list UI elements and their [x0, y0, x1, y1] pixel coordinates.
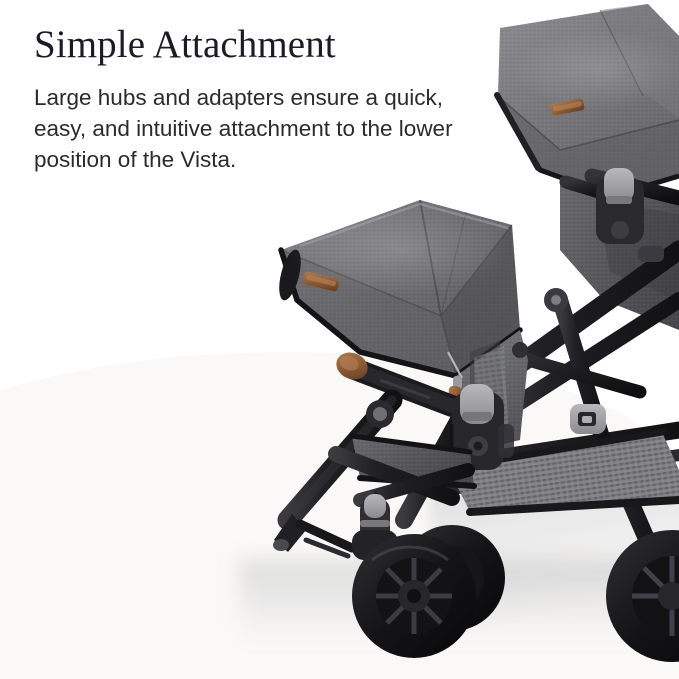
upper-adapter-hub [596, 168, 644, 244]
leather-tag-upper [550, 98, 585, 116]
rear-wheel [606, 530, 679, 662]
rumble-seat-canopy [275, 200, 520, 376]
page-title: Simple Attachment [34, 22, 504, 68]
leather-tag-lower [302, 271, 340, 292]
feature-text-block: Simple Attachment Large hubs and adapter… [34, 22, 504, 175]
toddler-seat-body [560, 178, 679, 330]
stroller-frame [404, 176, 679, 570]
lower-adapter-hub [452, 384, 504, 470]
toddler-seat-canopy [497, 4, 679, 196]
product-feature-card: Simple Attachment Large hubs and adapter… [0, 0, 679, 679]
zipper-pull [447, 352, 462, 413]
front-caster-wheel [352, 494, 505, 658]
front-leg-assembly [273, 400, 394, 556]
lower-cross-frame [336, 454, 468, 560]
floor-reflection [430, 470, 679, 679]
rumble-seat-base [352, 436, 474, 486]
frame-hardware-details [498, 246, 664, 458]
backdrop-curve [0, 352, 679, 679]
feature-description: Large hubs and adapters ensure a quick, … [34, 82, 464, 175]
brake-pedal [570, 404, 606, 434]
leather-handlebar [332, 348, 452, 406]
storage-basket-mesh [448, 432, 679, 512]
rumble-seat-back [452, 330, 528, 452]
floor-shadow [240, 560, 679, 679]
